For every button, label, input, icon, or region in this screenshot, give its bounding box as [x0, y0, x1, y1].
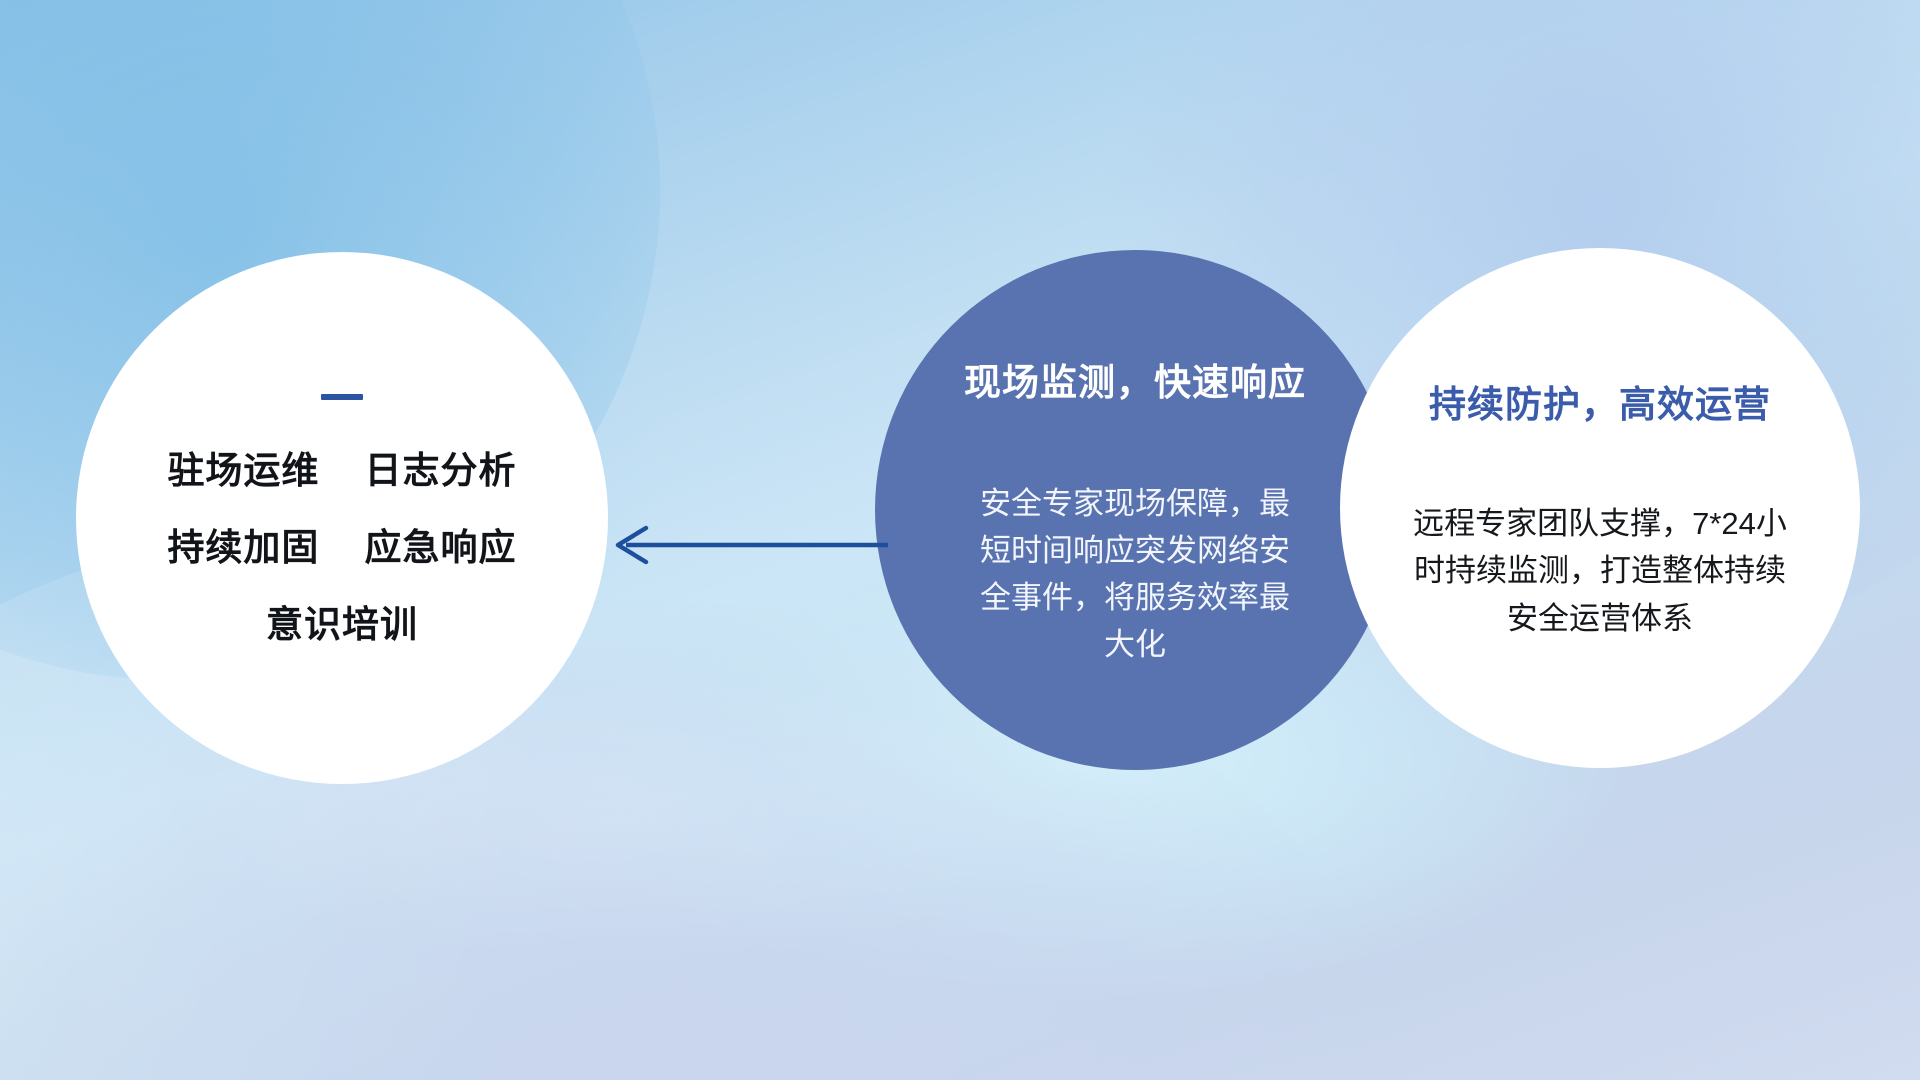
continuous-protection-circle[interactable]: 持续防护，高效运营 远程专家团队支撑，7*24小时持续监测，打造整体持续安全运营… [1340, 248, 1860, 768]
onsite-monitoring-body: 安全专家现场保障，最短时间响应突发网络安全事件，将服务效率最大化 [970, 480, 1300, 668]
onsite-monitoring-title: 现场监测，快速响应 [964, 352, 1306, 406]
divider-bar-icon [321, 394, 363, 400]
left-circle-line-3: 意识培训 [266, 606, 418, 643]
onsite-monitoring-circle[interactable]: 现场监测，快速响应 安全专家现场保障，最短时间响应突发网络安全事件，将服务效率最… [875, 250, 1395, 770]
left-circle-line-2: 持续加固 应急响应 [167, 529, 516, 566]
arrow-left-icon [600, 515, 890, 575]
continuous-protection-body: 远程专家团队支撑，7*24小时持续监测，打造整体持续安全运营体系 [1400, 500, 1800, 641]
slide-canvas: 驻场运维 日志分析 持续加固 应急响应 意识培训 现场监测，快速响应 安全专家现… [0, 0, 1920, 1080]
left-capability-circle[interactable]: 驻场运维 日志分析 持续加固 应急响应 意识培训 [76, 252, 608, 784]
continuous-protection-title: 持续防护，高效运营 [1429, 374, 1771, 428]
left-circle-line-1: 驻场运维 日志分析 [167, 452, 516, 489]
